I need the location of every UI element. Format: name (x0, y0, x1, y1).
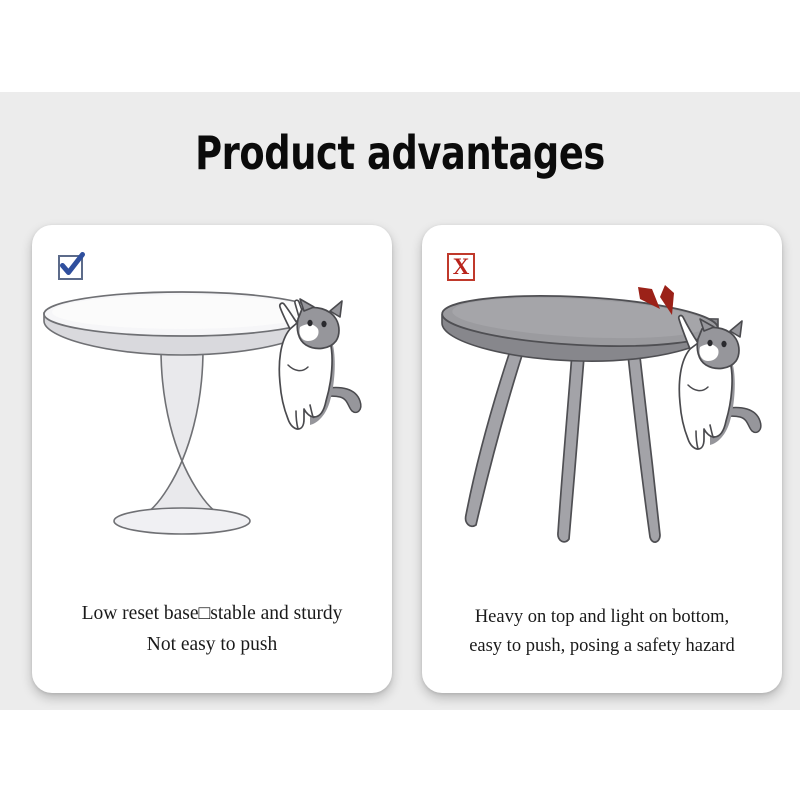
cat-figure (279, 299, 361, 429)
advantage-card-good: Low reset base□stable and sturdy Not eas… (32, 225, 392, 693)
page-title: Product advantages (80, 130, 720, 176)
cat-eye (707, 340, 712, 346)
x-mark-label: X (447, 253, 475, 281)
x-box-icon: X (444, 248, 478, 282)
card-caption-good: Low reset base□stable and sturdy Not eas… (38, 599, 386, 661)
caption-line: Low reset base□stable and sturdy (38, 599, 386, 630)
pedestal-table-illustration (32, 283, 392, 583)
tipping-table-illustration (422, 283, 782, 583)
cat-eye (321, 321, 326, 327)
cat-figure (679, 316, 761, 449)
cat-eye (307, 320, 312, 326)
caption-line: Not easy to push (38, 630, 386, 661)
caption-line: Heavy on top and light on bottom, (428, 603, 776, 632)
cat-eye (721, 341, 726, 347)
advantage-card-bad: X (422, 225, 782, 693)
check-icon (54, 248, 88, 282)
caption-line: easy to push, posing a safety hazard (428, 632, 776, 661)
card-caption-bad: Heavy on top and light on bottom, easy t… (428, 603, 776, 661)
checkmark-box-icon (54, 248, 88, 282)
product-advantages-graphic: Product advantages (0, 0, 800, 800)
